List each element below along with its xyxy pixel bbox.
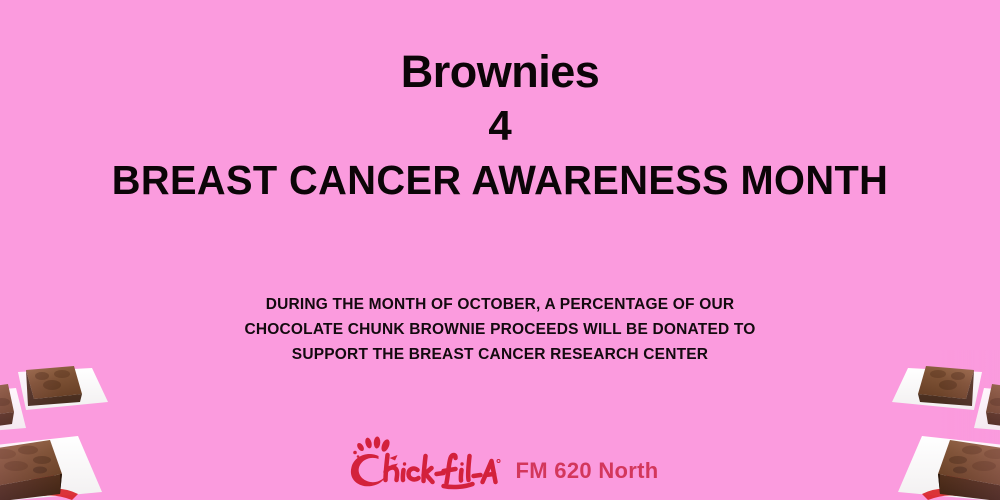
- headline-block: Brownies 4 BREAST CANCER AWARENESS MONTH: [0, 46, 1000, 206]
- brownies-photo-left: [0, 350, 157, 500]
- title-awareness-month: BREAST CANCER AWARENESS MONTH: [15, 154, 985, 206]
- brownies-photo-left-art: [0, 350, 157, 500]
- title-brownies: Brownies: [0, 46, 1000, 98]
- promo-description: DURING THE MONTH OF OCTOBER, A PERCENTAG…: [215, 292, 785, 367]
- promo-poster: Brownies 4 BREAST CANCER AWARENESS MONTH…: [0, 0, 1000, 500]
- brand-lockup: FM 620 North: [342, 436, 659, 492]
- title-number-four: 4: [0, 98, 1000, 154]
- chick-fil-a-logo: [342, 436, 502, 492]
- store-location-label: FM 620 North: [516, 458, 659, 492]
- brownies-photo-right-art: [843, 350, 1000, 500]
- brownies-photo-right: [843, 350, 1000, 500]
